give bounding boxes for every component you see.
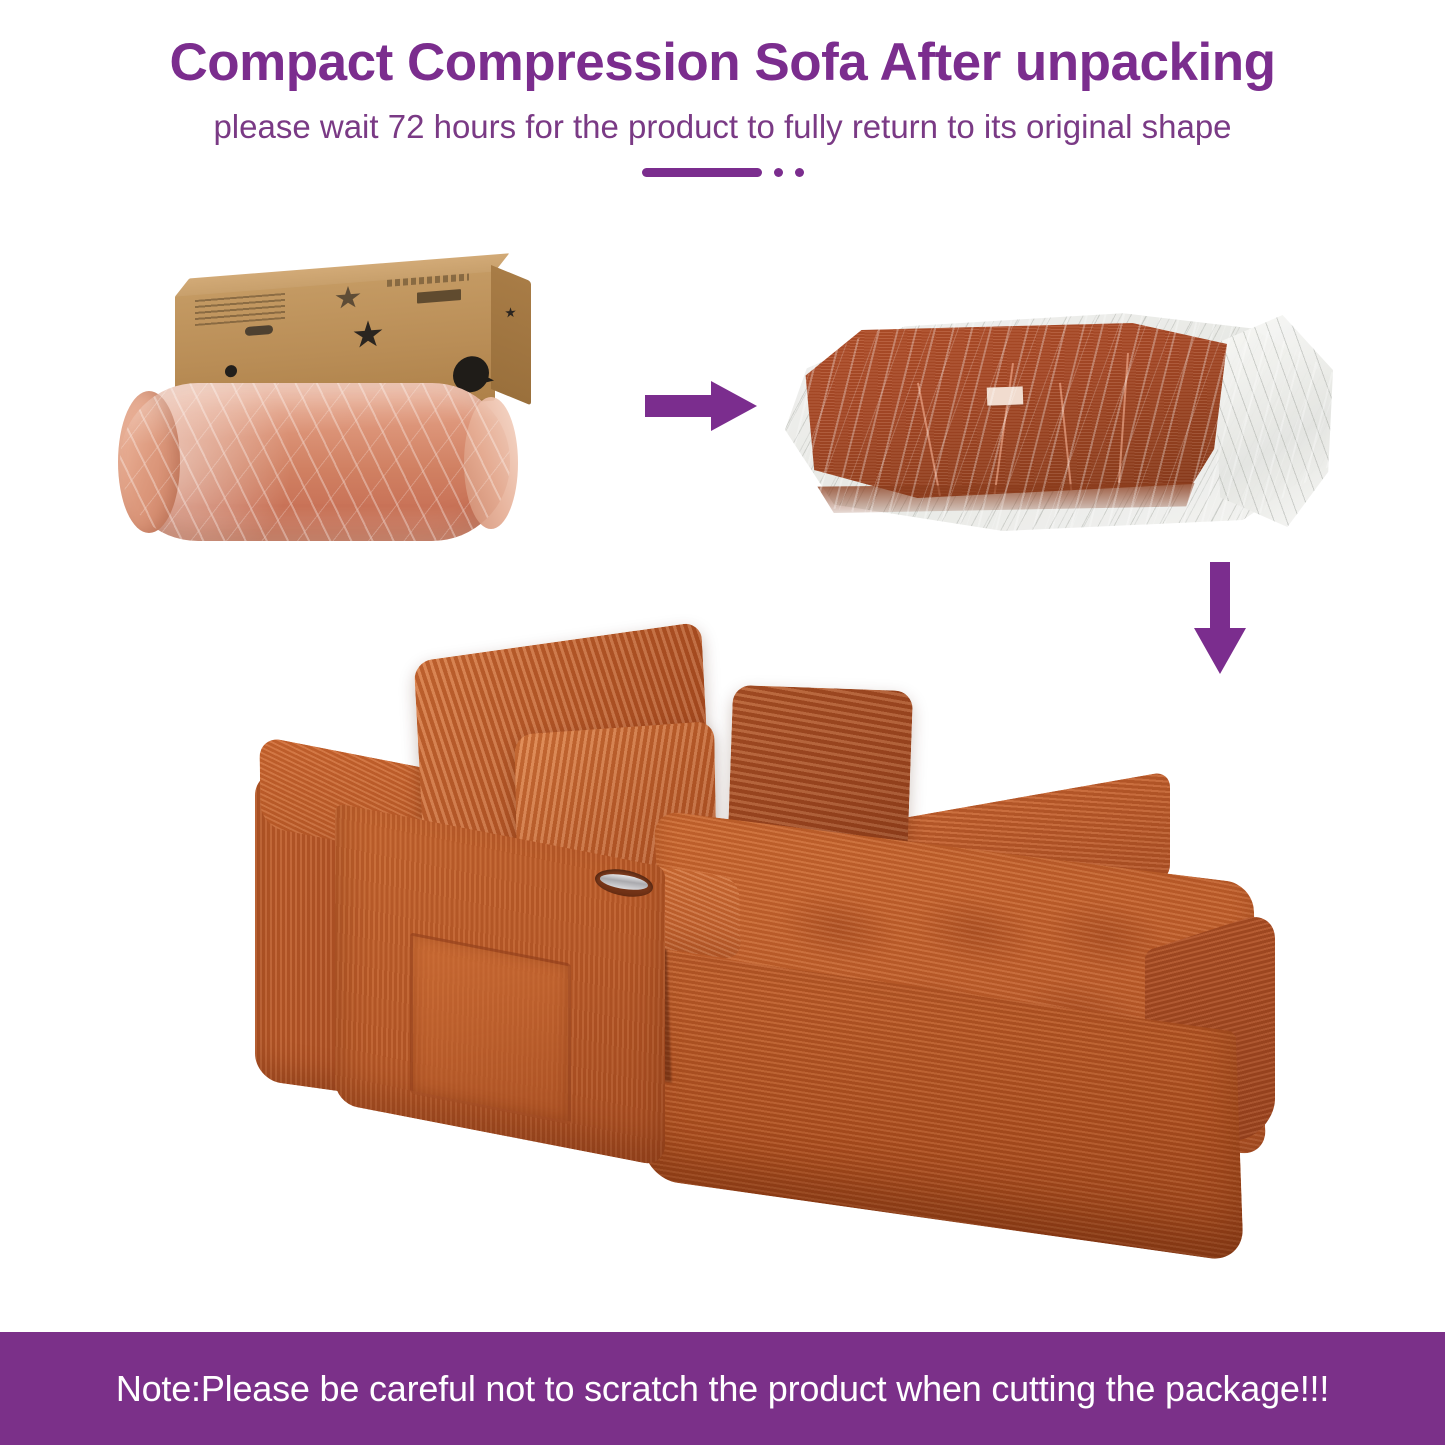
arrow-right-icon xyxy=(645,381,757,431)
product-tag-label xyxy=(987,386,1024,405)
carton-handling-mark-icon xyxy=(245,325,273,336)
star-icon xyxy=(353,319,383,350)
boxed-rolled-sofa-photo xyxy=(120,265,540,555)
star-icon xyxy=(335,285,361,311)
sofa-side-storage-pocket xyxy=(410,932,571,1124)
rolled-sofa-package xyxy=(120,383,510,541)
plastic-crease xyxy=(1118,353,1129,483)
note-banner: Note:Please be careful not to scratch th… xyxy=(0,1332,1445,1445)
plastic-wrap-sheen xyxy=(120,383,510,541)
page-subtitle: please wait 72 hours for the product to … xyxy=(0,93,1445,146)
divider-dot-icon xyxy=(795,168,804,177)
page-title: Compact Compression Sofa After unpacking xyxy=(0,0,1445,93)
expanded-sofa-photo xyxy=(240,630,1300,1250)
carton-label-block xyxy=(417,289,461,303)
divider-bar-icon xyxy=(642,168,762,177)
plastic-crease xyxy=(917,383,941,496)
infographic-page: Compact Compression Sofa After unpacking… xyxy=(0,0,1445,1445)
carton-side-face xyxy=(491,265,531,405)
compressed-sofa-slab xyxy=(797,323,1227,498)
compressed-flat-sofa-photo xyxy=(775,305,1335,535)
header: Compact Compression Sofa After unpacking… xyxy=(0,0,1445,177)
carton-print-text xyxy=(195,293,285,326)
note-banner-text: Note:Please be careful not to scratch th… xyxy=(116,1368,1329,1410)
divider-dot-icon xyxy=(774,168,783,177)
plastic-bag-tail xyxy=(1213,315,1333,527)
plastic-crease xyxy=(993,363,1014,502)
divider xyxy=(0,146,1445,177)
carton-hole-icon xyxy=(225,365,237,378)
